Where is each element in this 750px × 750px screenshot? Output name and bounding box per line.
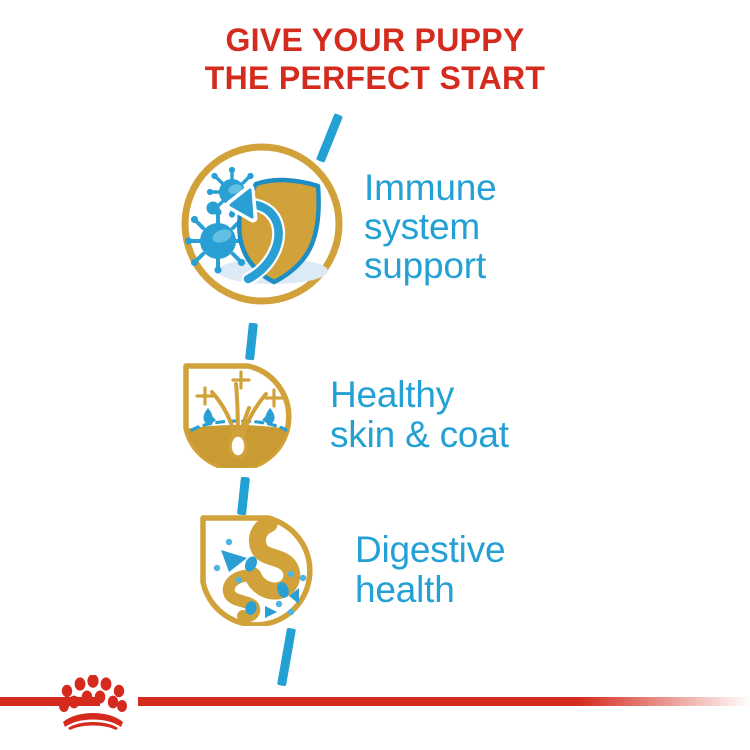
digestive-health-icon-svg xyxy=(195,508,321,626)
benefit-item-skin-coat: Healthy skin & coat xyxy=(178,356,509,473)
royal-canin-crown-icon xyxy=(55,675,131,730)
footer-rule-right xyxy=(138,697,750,706)
benefit-item-digestive: Digestive health xyxy=(195,508,505,631)
connector-dash-1 xyxy=(245,323,258,361)
digestive-health-icon xyxy=(195,508,321,631)
poster-canvas: GIVE YOUR PUPPY THE PERFECT START xyxy=(0,0,750,750)
page-title: GIVE YOUR PUPPY THE PERFECT START xyxy=(0,22,750,98)
skin-coat-icon xyxy=(178,356,300,473)
page-title-line-2: THE PERFECT START xyxy=(0,60,750,98)
benefit-label-skin-coat: Healthy skin & coat xyxy=(330,375,509,453)
royal-canin-crown-logo xyxy=(55,675,131,730)
connector-dash-bottom xyxy=(277,628,296,687)
immune-shield-icon xyxy=(178,140,346,313)
benefit-label-immune: Immune system support xyxy=(364,168,496,286)
skin-coat-icon-svg xyxy=(178,356,300,468)
page-title-line-1: GIVE YOUR PUPPY xyxy=(0,22,750,60)
immune-shield-icon-svg xyxy=(178,140,346,308)
benefit-label-digestive: Digestive health xyxy=(355,530,505,608)
benefit-item-immune: Immune system support xyxy=(178,140,496,313)
